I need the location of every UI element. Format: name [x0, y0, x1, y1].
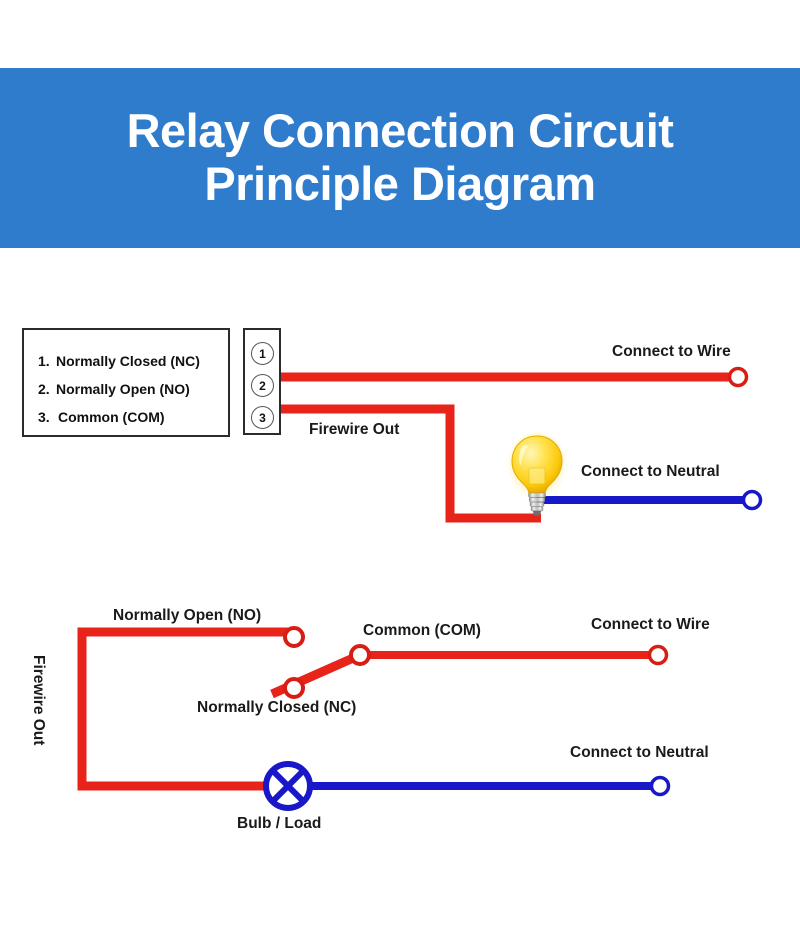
terminal-1[interactable]: 1: [251, 342, 274, 365]
diagram-page: Relay Connection Circuit Principle Diagr…: [0, 0, 800, 930]
legend-item-1-label: Normally Closed (NC): [56, 354, 200, 368]
relay-terminal-block: 1 2 3: [243, 328, 281, 435]
label-connect-to-neutral-bottom: Connect to Neutral: [570, 745, 709, 761]
lamp-load-symbol: [266, 764, 310, 808]
label-firewire-out-bottom: Firewire Out: [28, 655, 48, 785]
label-common: Common (COM): [363, 623, 481, 639]
legend-item-2-number: 2.: [38, 382, 50, 396]
ring-terminal-nc[interactable]: [285, 679, 303, 697]
label-normally-closed: Normally Closed (NC): [197, 700, 356, 716]
ring-terminal-wire-top[interactable]: [730, 369, 747, 386]
legend-item-1-number: 1.: [38, 354, 50, 368]
legend-item-2-label: Normally Open (NO): [56, 382, 190, 396]
label-connect-to-wire-top: Connect to Wire: [612, 344, 731, 360]
light-bulb-illustration: [505, 430, 569, 518]
label-bulb-load: Bulb / Load: [237, 816, 321, 832]
legend-item-3-number: 3.: [38, 410, 50, 424]
legend-item-3-label: Common (COM): [58, 410, 165, 424]
bottom-circuit-wires: [82, 628, 669, 808]
ring-terminal-neutral-top[interactable]: [744, 492, 761, 509]
label-connect-to-neutral-top: Connect to Neutral: [581, 464, 720, 480]
terminal-legend-box: 1. Normally Closed (NC) 2. Normally Open…: [22, 328, 230, 437]
ring-terminal-neutral-bottom[interactable]: [652, 778, 669, 795]
ring-terminal-wire-bottom[interactable]: [650, 647, 667, 664]
ring-terminal-com[interactable]: [351, 646, 369, 664]
ring-terminal-no[interactable]: [285, 628, 303, 646]
label-firewire-out-top: Firewire Out: [309, 422, 399, 438]
label-connect-to-wire-bottom: Connect to Wire: [591, 617, 710, 633]
terminal-3[interactable]: 3: [251, 406, 274, 429]
terminal-2[interactable]: 2: [251, 374, 274, 397]
label-normally-open: Normally Open (NO): [113, 608, 261, 624]
